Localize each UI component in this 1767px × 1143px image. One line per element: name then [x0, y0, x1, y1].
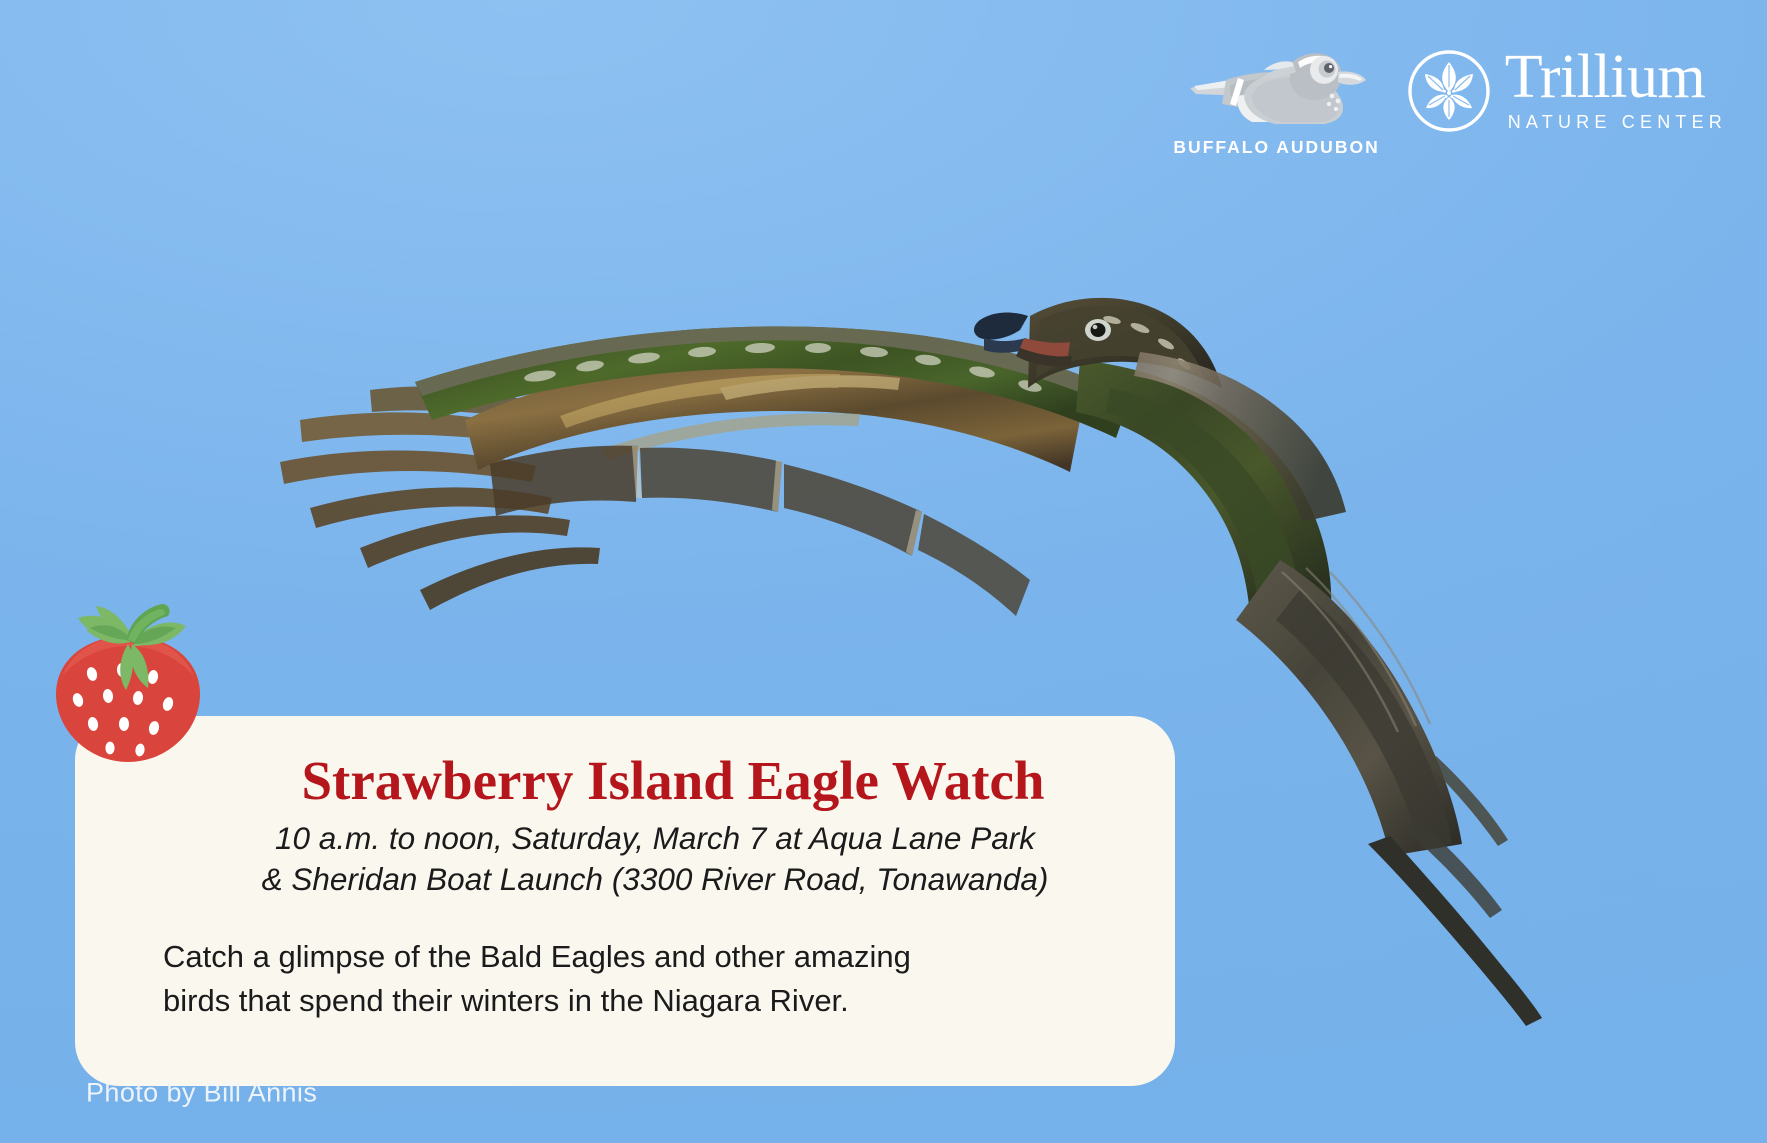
event-description-line-2: birds that spend their winters in the Ni… [163, 979, 1129, 1023]
event-info-card: Strawberry Island Eagle Watch 10 a.m. to… [75, 716, 1175, 1086]
audubon-logo-text: BUFFALO AUDUBON [1173, 137, 1379, 158]
event-description-line-1: Catch a glimpse of the Bald Eagles and o… [163, 935, 1129, 979]
event-time-location-line-2: & Sheridan Boat Launch (3300 River Road,… [181, 859, 1129, 901]
trillium-flower-icon [1406, 48, 1492, 134]
strawberry-icon [48, 578, 208, 768]
event-flyer: BUFFALO AUDUBON [0, 0, 1767, 1143]
event-time-location-line-1: 10 a.m. to noon, Saturday, March 7 at Aq… [181, 818, 1129, 860]
event-title: Strawberry Island Eagle Watch [217, 752, 1129, 810]
bald-eagle-photo [240, 120, 1360, 800]
strawberry-decoration [48, 578, 208, 768]
photo-credit: Photo by Bill Annis [86, 1078, 317, 1109]
trillium-logo-subtitle: NATURE CENTER [1508, 112, 1727, 133]
buffalo-audubon-logo[interactable]: BUFFALO AUDUBON [1173, 44, 1379, 158]
trillium-nature-center-logo[interactable]: Trillium NATURE CENTER [1406, 48, 1727, 134]
logo-bar: BUFFALO AUDUBON [1173, 44, 1727, 158]
wood-duck-icon [1186, 44, 1368, 130]
trillium-logo-text: Trillium [1505, 49, 1705, 106]
